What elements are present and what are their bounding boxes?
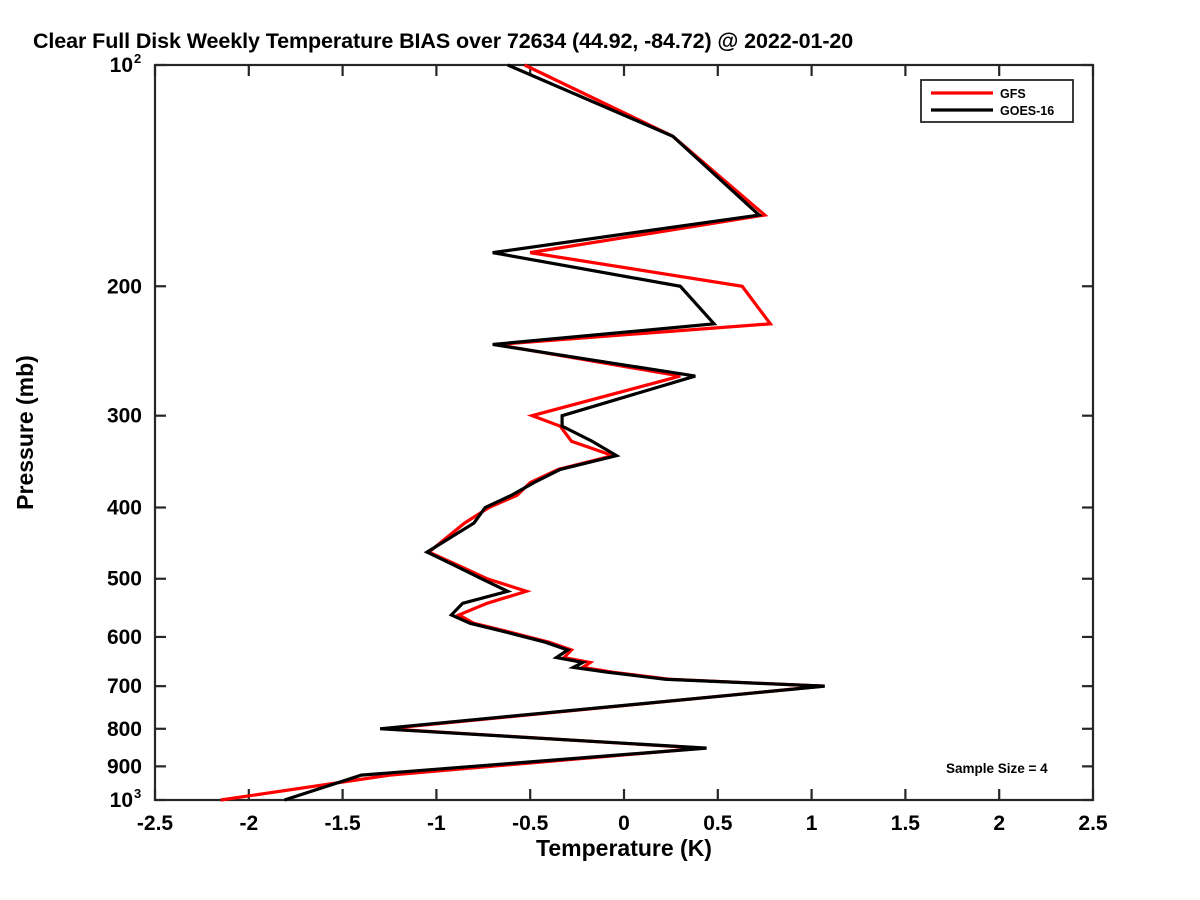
x-tick-label: 0.5 [703, 812, 733, 835]
x-tick-label: 2 [993, 812, 1005, 835]
series-layer [221, 65, 825, 800]
x-tick-label: -0.5 [512, 812, 549, 835]
series-line-goes-16 [284, 65, 824, 800]
plot-frame [155, 65, 1093, 800]
sample-size-annotation: Sample Size = 4 [946, 761, 1048, 776]
y-tick-label-exponent: 3 [134, 786, 141, 801]
y-tick-label: 102 [110, 51, 142, 77]
y-tick-label: 600 [107, 626, 142, 649]
y-tick-label: 800 [107, 718, 142, 741]
y-tick-label-exponent: 2 [134, 51, 141, 66]
x-tick-label: 1.5 [891, 812, 921, 835]
legend-label-goes-16: GOES-16 [1000, 104, 1054, 118]
x-tick-label: -2.5 [137, 812, 174, 835]
legend-layer: GFSGOES-16 [921, 80, 1073, 122]
x-tick-label: 2.5 [1078, 812, 1108, 835]
y-tick-label: 900 [107, 755, 142, 778]
series-line-gfs [221, 65, 823, 800]
figure-root: Clear Full Disk Weekly Temperature BIAS … [0, 0, 1200, 900]
x-axis-title: Temperature (K) [536, 835, 712, 861]
y-tick-label: 500 [107, 568, 142, 591]
y-tick-label-base: 10 [110, 789, 133, 812]
y-tick-label: 103 [110, 786, 142, 812]
y-tick-label: 200 [107, 275, 142, 298]
x-tick-label: -1.5 [325, 812, 362, 835]
x-tick-label: -1 [427, 812, 446, 835]
y-tick-label-base: 10 [110, 54, 133, 77]
y-tick-label: 400 [107, 497, 142, 520]
plot-canvas: -2.5-2-1.5-1-0.500.511.522.5102200300400… [0, 0, 1200, 900]
x-tick-label: 0 [618, 812, 630, 835]
y-tick-label: 700 [107, 675, 142, 698]
legend-label-gfs: GFS [1000, 87, 1026, 101]
y-tick-label: 300 [107, 405, 142, 428]
x-tick-label: -2 [239, 812, 258, 835]
annotation-layer: Sample Size = 4 [946, 761, 1048, 776]
x-tick-label: 1 [806, 812, 818, 835]
y-axis-title: Pressure (mb) [12, 355, 38, 510]
